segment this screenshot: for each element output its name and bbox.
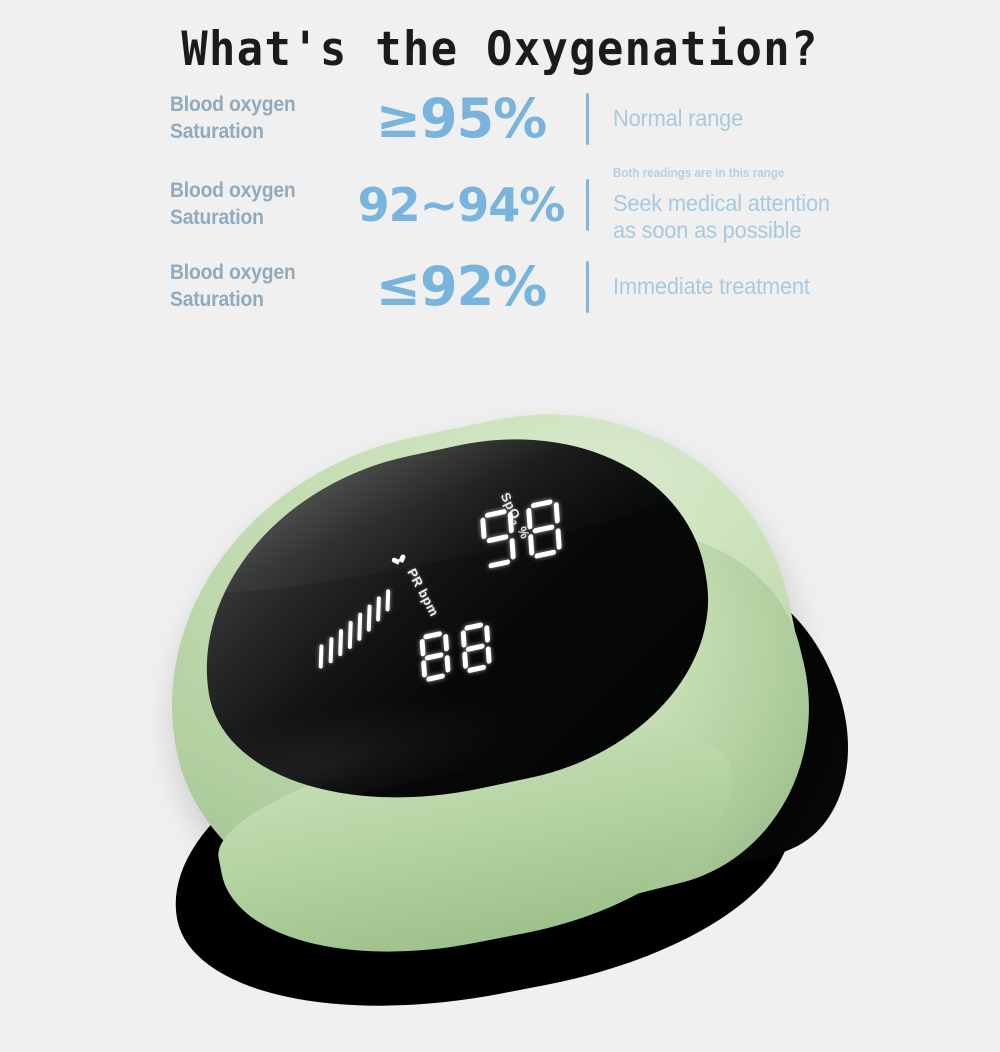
row-description: Immediate treatment [613, 273, 981, 300]
row-description-line1: Normal range [613, 105, 743, 131]
row-value: ≤92% [342, 260, 580, 314]
row-description-line1: Immediate treatment [613, 273, 810, 299]
row-description-line1: Seek medical attention [613, 190, 830, 216]
row-divider [586, 179, 589, 231]
row-description: Both readings are in this range Seek med… [613, 166, 981, 244]
row-description: Normal range [613, 105, 981, 132]
row-label-line1: Blood oxygen [170, 92, 328, 119]
row-label-line2: Saturation [170, 287, 328, 314]
infographic-page: What's the Oxygenation? Blood oxygen Sat… [0, 0, 1000, 1000]
row-label: Blood oxygen Saturation [170, 178, 328, 232]
product-photo: SpO2 % PR bpm [0, 400, 1000, 1000]
oxygen-level-table: Blood oxygen Saturation ≥95% Normal rang… [0, 92, 1000, 314]
row-label: Blood oxygen Saturation [170, 260, 328, 314]
row-divider [586, 93, 589, 145]
row-divider [586, 261, 589, 313]
row-label-line2: Saturation [170, 119, 328, 146]
fingertip-pulse-oximeter: SpO2 % PR bpm [150, 410, 850, 990]
table-row: Blood oxygen Saturation ≤92% Immediate t… [0, 260, 1000, 314]
table-row: Blood oxygen Saturation 92~94% Both read… [0, 166, 1000, 244]
row-label-line1: Blood oxygen [170, 178, 328, 205]
row-label: Blood oxygen Saturation [170, 92, 328, 146]
row-description-line2: as soon as possible [613, 217, 981, 244]
page-title: What's the Oxygenation? [35, 22, 965, 77]
row-note: Both readings are in this range [613, 166, 973, 181]
row-label-line1: Blood oxygen [170, 260, 328, 287]
row-value: 92~94% [342, 182, 580, 228]
row-value: ≥95% [342, 92, 580, 146]
table-row: Blood oxygen Saturation ≥95% Normal rang… [0, 92, 1000, 146]
row-label-line2: Saturation [170, 205, 328, 232]
